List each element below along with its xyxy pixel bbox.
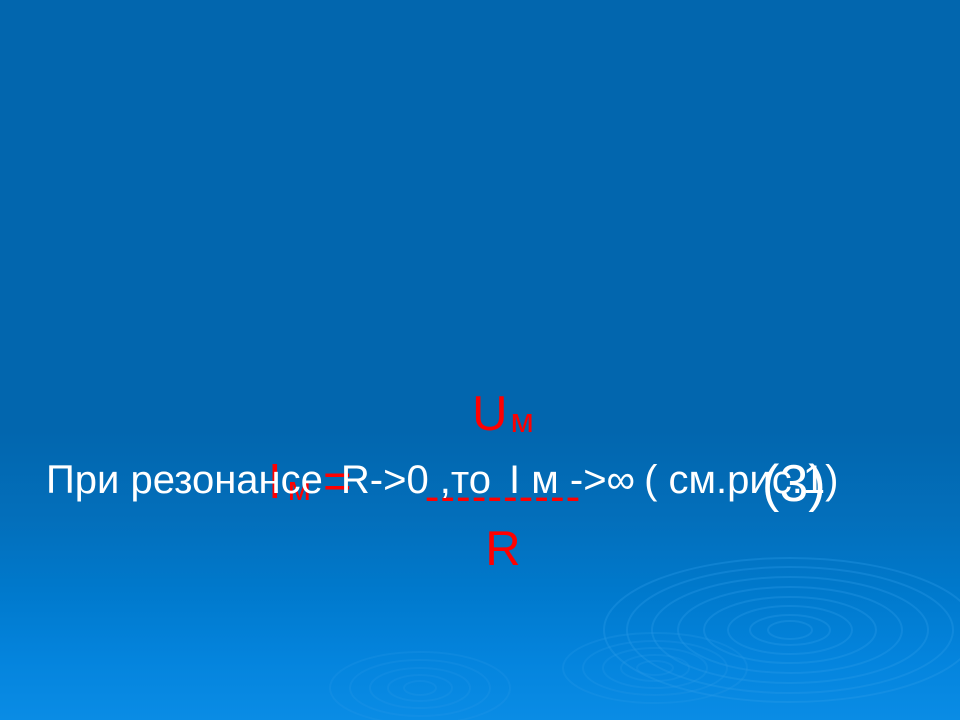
statement-part-3: I м ->∞ bbox=[509, 458, 635, 502]
formula-numerator: Uм bbox=[398, 390, 608, 439]
numerator-symbol: U bbox=[472, 387, 507, 441]
formula-denominator: R bbox=[398, 525, 608, 574]
statement-part-4: ( см.рис.1) bbox=[644, 458, 838, 502]
statement-part-1: При резонансе bbox=[46, 458, 323, 502]
statement-line: При резонансеR->0 ,тоI м ->∞( см.рис.1) bbox=[46, 458, 926, 502]
numerator-subscript: м bbox=[508, 402, 534, 440]
slide-canvas: Uм Iм= ---------- R (3) При резонансеR->… bbox=[0, 0, 960, 720]
statement-part-2: R->0 ,то bbox=[341, 458, 491, 502]
formula-block: Uм Iм= ---------- R (3) bbox=[0, 186, 960, 406]
